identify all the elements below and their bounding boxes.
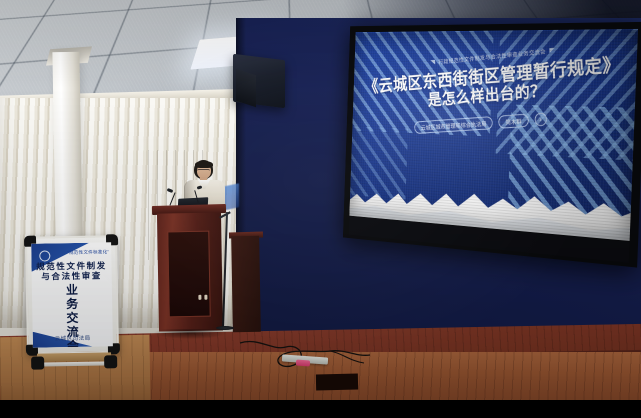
banner-quote-text: “规范性文件标准化” xyxy=(67,249,109,256)
ceiling-loudspeaker-face xyxy=(236,69,256,107)
mic-stand-base xyxy=(216,326,234,330)
presentation-room-photo: 行政规范性文件制发与合法性审查业务交流会 《云城区东西街街区管理暂行规定》 是怎… xyxy=(0,0,641,400)
banner-stand-legs xyxy=(33,351,115,368)
triangle-bullet-right-icon xyxy=(549,48,554,53)
triangle-bullet-icon xyxy=(430,60,435,65)
banner-leg-crossbar xyxy=(35,361,113,366)
slide-pill-speaker: 简木群 xyxy=(499,113,529,128)
lectern-floor-shadow xyxy=(154,329,226,339)
glasses-icon xyxy=(197,169,210,174)
banner-leg-crossbar-wood xyxy=(37,352,111,361)
lectern-emblem-right xyxy=(204,295,207,300)
presentation-slide: 行政规范性文件制发与合法性审查业务交流会 《云城区东西街街区管理暂行规定》 是怎… xyxy=(349,29,638,241)
wooden-lectern xyxy=(156,205,222,337)
presenter-fringe xyxy=(195,161,213,168)
chevron-right-icon: › xyxy=(534,112,547,126)
slide-content: 行政规范性文件制发与合法性审查业务交流会 《云城区东西街街区管理暂行规定》 是怎… xyxy=(353,53,638,136)
banner-foot-right xyxy=(104,355,117,368)
led-presentation-screen: 行政规范性文件制发与合法性审查业务交流会 《云城区东西街街区管理暂行规定》 是怎… xyxy=(343,22,641,268)
banner-poster: “规范性文件标准化” 规范性文件制发 与合法性审查 业 务 交 流 云城区司法局… xyxy=(31,242,113,347)
banner-frame: “规范性文件标准化” 规范性文件制发 与合法性审查 业 务 交 流 云城区司法局… xyxy=(25,235,119,355)
lectern-emblem-left xyxy=(198,295,201,300)
standing-banner-sign: “规范性文件标准化” 规范性文件制发 与合法性审查 业 务 交 流 云城区司法局… xyxy=(25,235,119,355)
banner-char-5: 会 xyxy=(33,336,113,347)
pink-plug-adapter xyxy=(296,360,310,367)
lectern-front-panel xyxy=(167,231,210,318)
banner-foot-left xyxy=(31,356,44,369)
side-table xyxy=(231,236,261,332)
